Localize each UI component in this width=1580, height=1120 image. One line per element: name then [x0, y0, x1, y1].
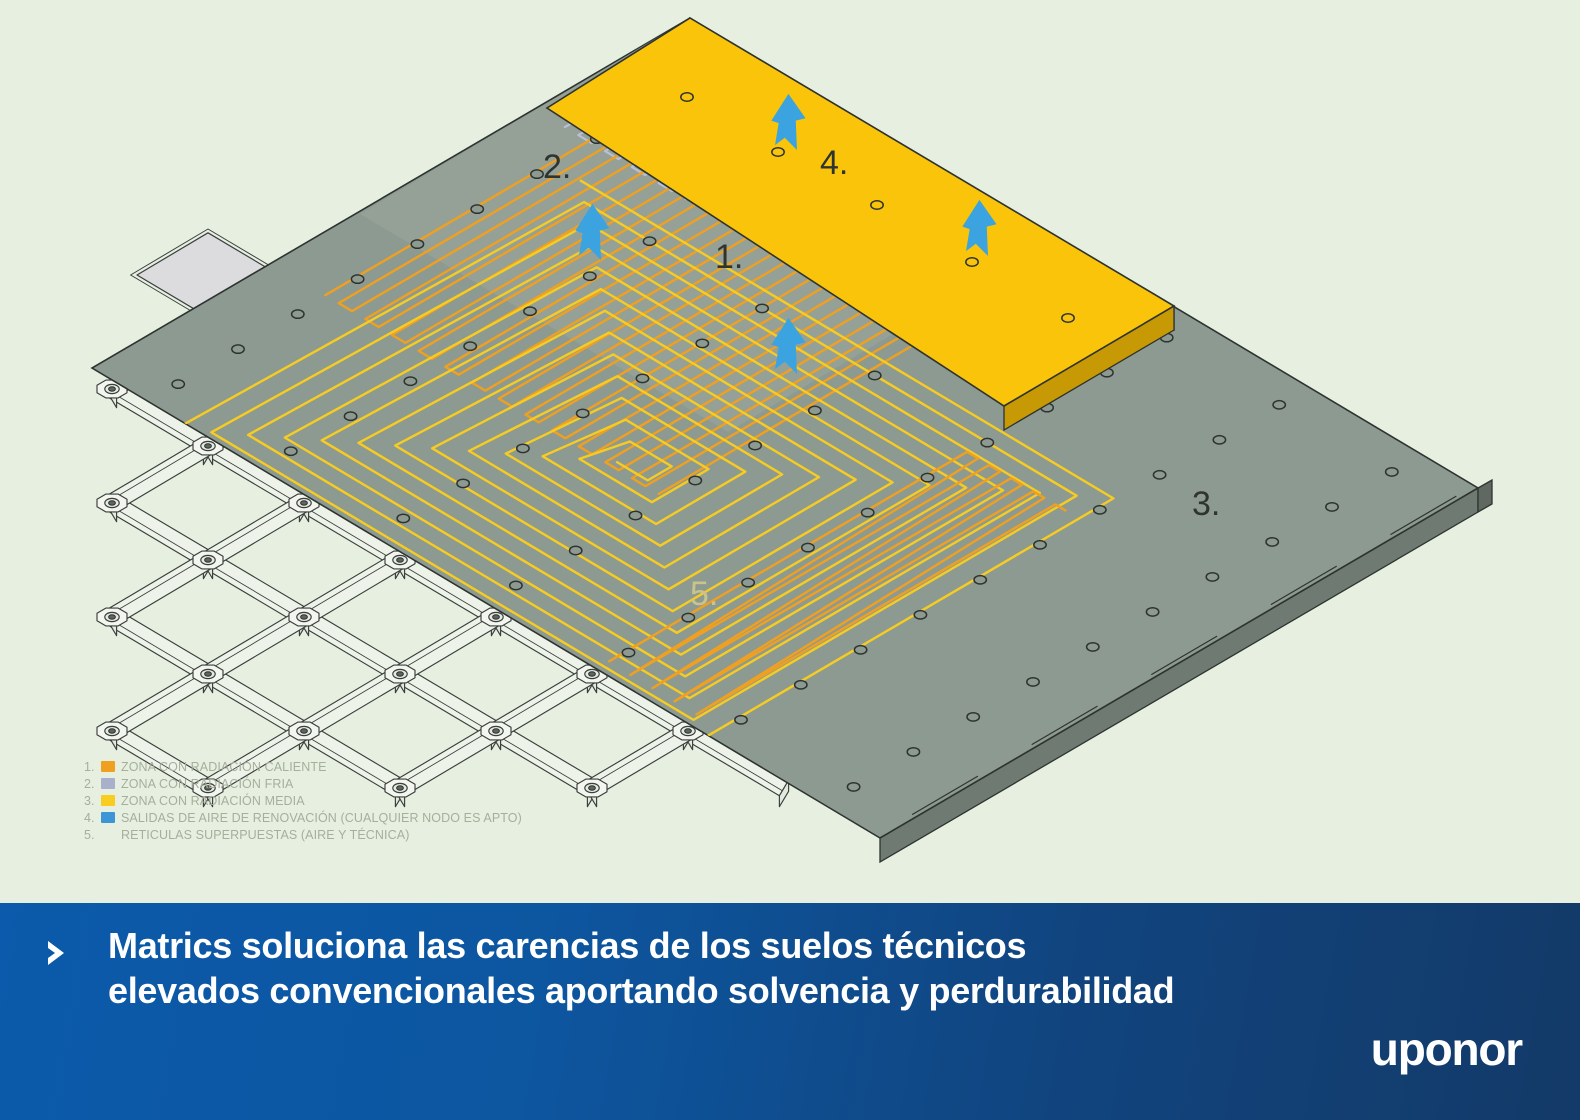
- lattice-node-bore: [589, 786, 596, 790]
- lattice-node-bore: [109, 501, 116, 505]
- panel-node-hole: [871, 201, 883, 209]
- slab-node-hole: [696, 339, 708, 347]
- slab-node-hole: [981, 438, 993, 446]
- lattice-beam-groove: [302, 620, 398, 677]
- slab-node-hole: [531, 170, 543, 178]
- lattice-beam-groove: [110, 671, 206, 728]
- slab-node-hole: [643, 237, 655, 245]
- legend-swatch-hot: [101, 761, 115, 772]
- lattice-beam-groove: [110, 443, 206, 500]
- slab-node-hole: [232, 345, 244, 353]
- slab-node-hole: [344, 412, 356, 420]
- slab-node-hole: [967, 713, 979, 721]
- lattice-node-bore: [397, 558, 404, 562]
- panel-node-hole: [681, 93, 693, 101]
- lattice-node-bore: [301, 501, 308, 505]
- slab-node-hole: [974, 576, 986, 584]
- legend: 1. ZONA CON RADIACIÓN CALIENTE 2. ZONA C…: [84, 758, 564, 843]
- slab-node-hole: [524, 307, 536, 315]
- legend-number: 1.: [84, 760, 101, 774]
- slab-node-hole: [464, 342, 476, 350]
- slab-node-hole: [914, 611, 926, 619]
- slab-node-hole: [809, 406, 821, 414]
- list-item: 5. RETICULAS SUPERPUESTAS (AIRE Y TÉCNIC…: [84, 826, 564, 843]
- list-item: 1. ZONA CON RADIACIÓN CALIENTE: [84, 758, 564, 775]
- lattice-beam-groove: [206, 563, 302, 620]
- slab-node-hole: [1027, 678, 1039, 686]
- banner-headline-line1: Matrics soluciona las carencias de los s…: [108, 923, 1488, 968]
- slab-node-hole: [636, 374, 648, 382]
- slab-node-hole: [907, 748, 919, 756]
- lattice-beam-groove: [110, 620, 206, 677]
- slab-node-hole: [517, 444, 529, 452]
- slab-node-hole: [862, 508, 874, 516]
- list-item: 4. SALIDAS DE AIRE DE RENOVACIÓN (CUALQU…: [84, 809, 564, 826]
- callout-4: 4.: [820, 144, 848, 182]
- banner-headline-line2: elevados convencionales aportando solven…: [108, 968, 1488, 1013]
- slab-node-hole: [629, 511, 641, 519]
- legend-number: 5.: [84, 828, 101, 842]
- slab-node-hole: [1094, 506, 1106, 514]
- slab-node-hole: [1266, 538, 1278, 546]
- slab-node-hole: [1034, 541, 1046, 549]
- lattice-beam-groove: [302, 671, 398, 728]
- lattice-node-bore: [493, 615, 500, 619]
- slab-node-hole: [1326, 503, 1338, 511]
- slab-node-hole: [689, 476, 701, 484]
- slab-node-hole: [397, 514, 409, 522]
- matrics-isometric-diagram: 1.2.3.4.5.: [0, 0, 1580, 890]
- lattice-node-bore: [685, 729, 692, 733]
- slab-node-hole: [1213, 436, 1225, 444]
- slab-node-hole: [742, 578, 754, 586]
- legend-number: 2.: [84, 777, 101, 791]
- callout-1: 1.: [715, 238, 743, 276]
- slab-node-hole: [411, 240, 423, 248]
- slab-node-hole: [749, 441, 761, 449]
- lattice-node-bore: [109, 729, 116, 733]
- slab-node-hole: [471, 205, 483, 213]
- slab-node-hole: [457, 479, 469, 487]
- lattice-node-bore: [205, 672, 212, 676]
- panel-node-hole: [772, 148, 784, 156]
- legend-swatch-air: [101, 812, 115, 823]
- slab-node-hole: [847, 783, 859, 791]
- lattice-node-bore: [205, 444, 212, 448]
- lattice-node-bore: [109, 615, 116, 619]
- lattice-beam-groove: [110, 557, 206, 614]
- legend-swatch-cold: [101, 778, 115, 789]
- lattice-node-bore: [205, 558, 212, 562]
- lattice-node-bore: [109, 387, 116, 391]
- chevron-right-icon: [44, 938, 70, 968]
- banner-headline: Matrics soluciona las carencias de los s…: [108, 923, 1488, 1014]
- legend-label: ZONA CON RADIACIÓN MEDIA: [121, 794, 305, 808]
- lattice-node-bore: [589, 672, 596, 676]
- slab-node-hole: [351, 275, 363, 283]
- lattice-node-bore: [397, 672, 404, 676]
- list-item: 3. ZONA CON RADIACIÓN MEDIA: [84, 792, 564, 809]
- slab-node-hole: [921, 473, 933, 481]
- lattice-beam-groove: [110, 506, 206, 563]
- slab-node-hole: [756, 304, 768, 312]
- slab-node-hole: [1206, 573, 1218, 581]
- legend-number: 3.: [84, 794, 101, 808]
- legend-label: RETICULAS SUPERPUESTAS (AIRE Y TÉCNICA): [121, 828, 409, 842]
- slab-node-hole: [1153, 471, 1165, 479]
- callout-5: 5.: [690, 575, 718, 613]
- legend-number: 4.: [84, 811, 101, 825]
- legend-swatch-medium: [101, 795, 115, 806]
- callout-2: 2.: [543, 148, 571, 186]
- lattice-node-bore: [493, 729, 500, 733]
- slab-node-hole: [682, 613, 694, 621]
- slide-canvas: 1.2.3.4.5. 1. ZONA CON RADIACIÓN CALIENT…: [0, 0, 1580, 1120]
- slab-node-hole: [1386, 468, 1398, 476]
- slab-node-hole: [172, 380, 184, 388]
- slab-node-hole: [285, 447, 297, 455]
- slab-node-hole: [1087, 643, 1099, 651]
- legend-label: ZONA CON RADIACIÓN FRIA: [121, 777, 293, 791]
- lattice-beam-groove: [398, 614, 494, 671]
- slab-node-hole: [577, 409, 589, 417]
- uponor-logo: uponor: [1371, 1026, 1522, 1072]
- slab-node-hole: [622, 648, 634, 656]
- slab-node-hole: [869, 371, 881, 379]
- slab-node-hole: [570, 546, 582, 554]
- lattice-beam-groove: [590, 728, 686, 785]
- legend-label: ZONA CON RADIACIÓN CALIENTE: [121, 760, 327, 774]
- slab-node-hole: [735, 716, 747, 724]
- lattice-beam-groove: [398, 677, 494, 734]
- slab-node-hole: [292, 310, 304, 318]
- panel-node-hole: [966, 258, 978, 266]
- slab-node-hole: [802, 543, 814, 551]
- legend-label: SALIDAS DE AIRE DE RENOVACIÓN (CUALQUIER…: [121, 811, 522, 825]
- slab-node-hole: [1146, 608, 1158, 616]
- lattice-node-bore: [301, 615, 308, 619]
- slab-node-hole: [584, 272, 596, 280]
- panel-node-hole: [1062, 314, 1074, 322]
- slab-node-hole: [404, 377, 416, 385]
- lattice-beam-groove: [206, 500, 302, 557]
- list-item: 2. ZONA CON RADIACIÓN FRIA: [84, 775, 564, 792]
- lattice-beam-groove: [206, 677, 302, 734]
- legend-swatch-none: [101, 829, 115, 840]
- callout-3: 3.: [1192, 485, 1220, 523]
- lattice-beam-groove: [494, 671, 590, 728]
- lattice-beam-groove: [206, 614, 302, 671]
- slab-node-hole: [510, 581, 522, 589]
- lattice-node-bore: [301, 729, 308, 733]
- slab-node-hole: [1273, 401, 1285, 409]
- slab-node-hole: [854, 646, 866, 654]
- slab-node-hole: [795, 681, 807, 689]
- lattice-beam-groove: [302, 557, 398, 614]
